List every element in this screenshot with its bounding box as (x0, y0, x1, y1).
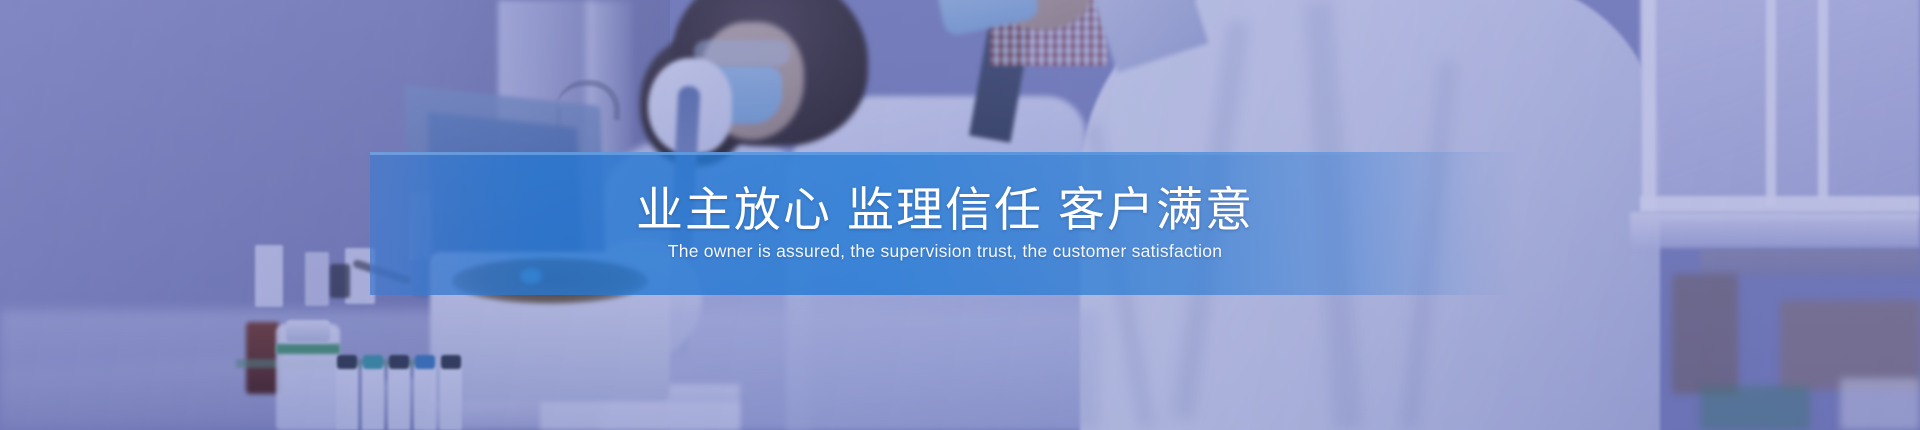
slogan-subheadline: The owner is assured, the supervision tr… (668, 241, 1222, 262)
slogan-block: 业主放心 监理信任 客户满意 The owner is assured, the… (370, 152, 1520, 295)
hero-banner: 业主放心 监理信任 客户满意 The owner is assured, the… (0, 0, 1920, 430)
slogan-headline: 业主放心 监理信任 客户满意 (636, 185, 1254, 235)
